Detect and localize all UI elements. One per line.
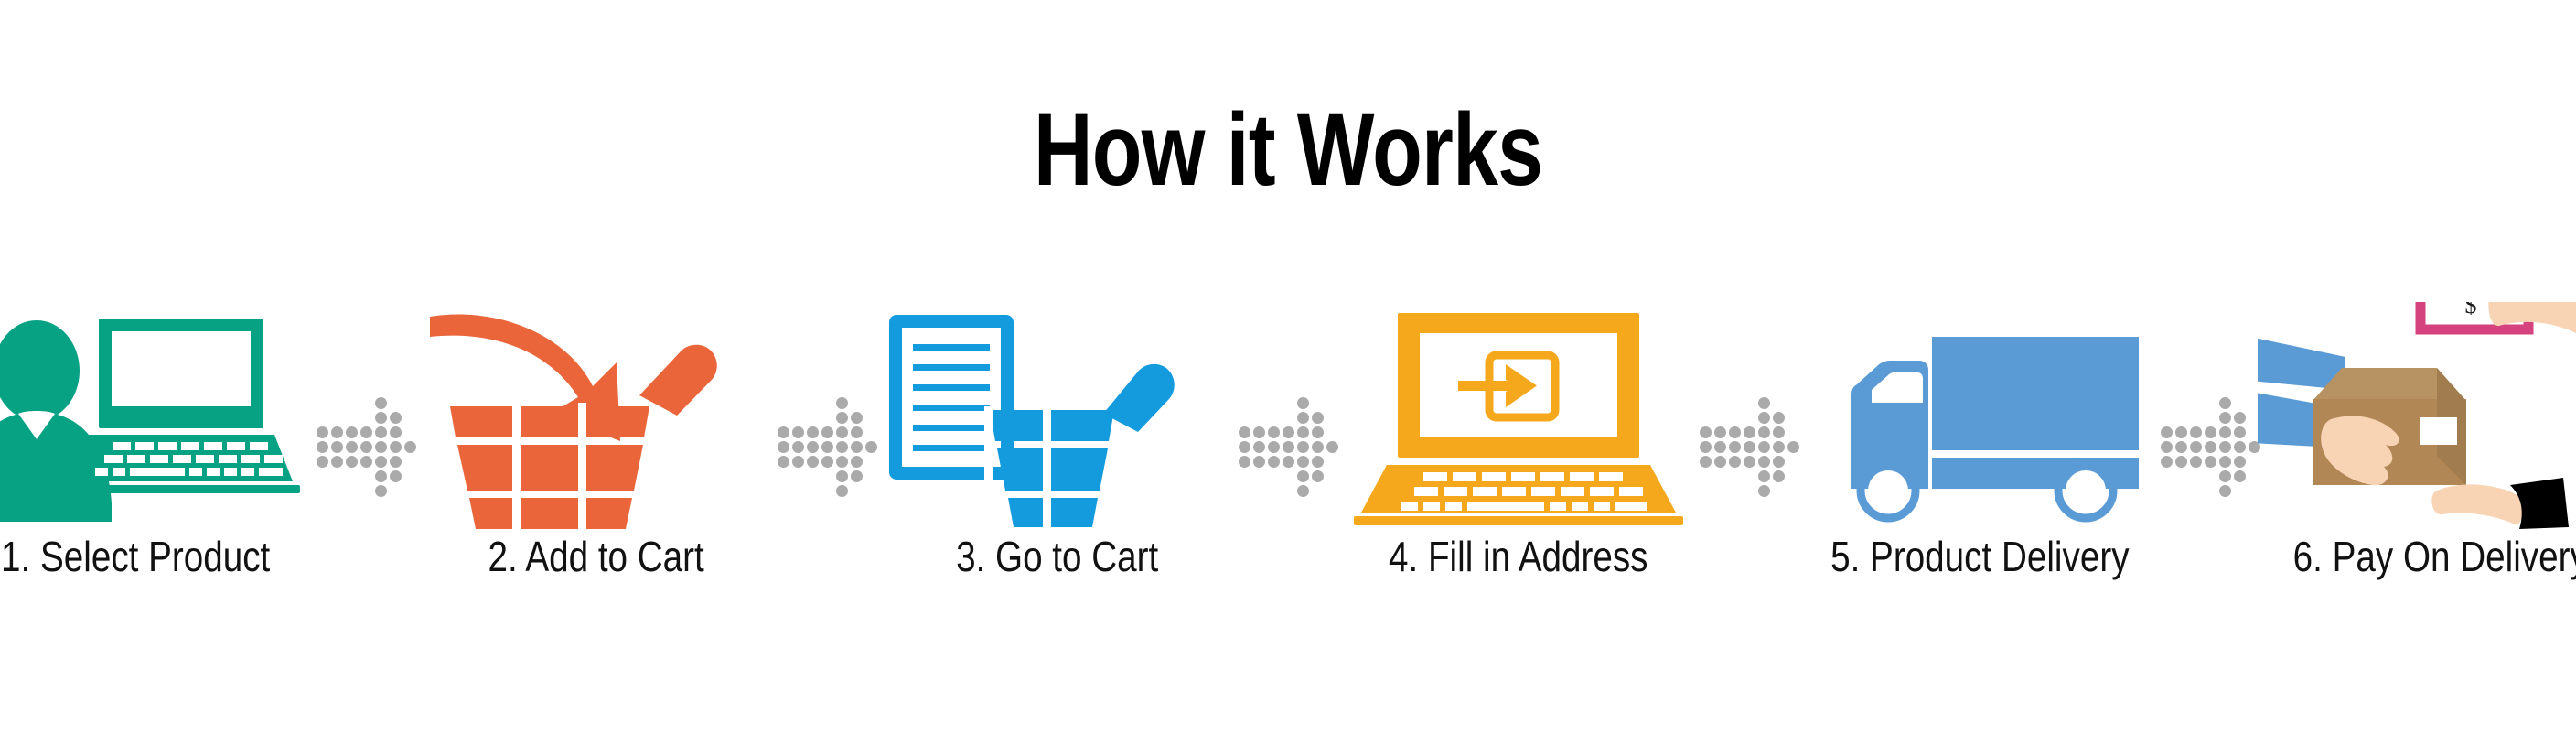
step-3-label: 3. Go to Cart xyxy=(956,534,1158,578)
step-4-label: 4. Fill in Address xyxy=(1389,534,1648,578)
step-3-go-to-cart[interactable]: 3. Go to Cart xyxy=(875,302,1240,632)
dotted-arrow-right-icon xyxy=(1239,397,1338,497)
separator-4 xyxy=(1701,302,1797,632)
step-4-artwork xyxy=(1336,302,1701,531)
step-6-pay-on-delivery[interactable]: $ xyxy=(2258,302,2576,632)
person-with-laptop-icon xyxy=(0,302,318,531)
step-2-artwork xyxy=(413,302,779,531)
hands-exchanging-box-and-money-icon: $ xyxy=(2258,302,2576,531)
svg-text:$: $ xyxy=(2465,302,2477,319)
step-1-label: 1. Select Product xyxy=(1,534,270,578)
dotted-arrow-right-icon xyxy=(1700,397,1799,497)
separator-1 xyxy=(318,302,413,632)
step-5-label: 5. Product Delivery xyxy=(1830,534,2129,578)
document-and-cart-icon xyxy=(875,302,1240,531)
step-1-select-product[interactable]: 1. Select Product xyxy=(0,302,318,632)
separator-3 xyxy=(1240,302,1336,632)
separator-2 xyxy=(779,302,875,632)
dotted-arrow-right-icon xyxy=(317,397,416,497)
step-2-label: 2. Add to Cart xyxy=(488,534,704,578)
step-3-artwork xyxy=(875,302,1240,531)
laptop-with-login-arrow-icon xyxy=(1336,302,1701,531)
dotted-arrow-right-icon xyxy=(2161,397,2260,497)
page-title: How it Works xyxy=(258,99,2319,201)
shopping-cart-with-arrow-icon xyxy=(413,302,779,531)
how-it-works-infographic: How it Works xyxy=(0,0,2576,745)
step-6-artwork: $ xyxy=(2258,302,2576,531)
step-4-fill-in-address[interactable]: 4. Fill in Address xyxy=(1336,302,1701,632)
steps-row: 1. Select Product xyxy=(0,302,2576,632)
step-6-label: 6. Pay On Delivery xyxy=(2293,534,2576,578)
step-5-artwork xyxy=(1797,302,2163,531)
step-5-product-delivery[interactable]: 5. Product Delivery xyxy=(1797,302,2163,632)
step-1-artwork xyxy=(0,302,318,531)
dotted-arrow-right-icon xyxy=(778,397,877,497)
separator-5 xyxy=(2163,302,2258,632)
delivery-truck-icon xyxy=(1797,302,2163,531)
step-2-add-to-cart[interactable]: 2. Add to Cart xyxy=(413,302,779,632)
